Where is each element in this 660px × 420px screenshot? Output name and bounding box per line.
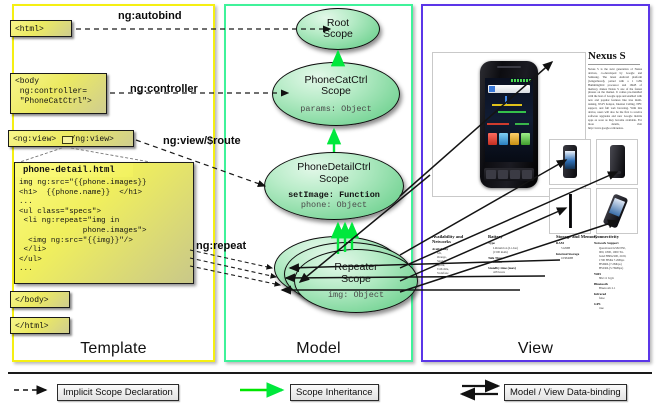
- phone-dock: [484, 168, 534, 181]
- spec-value-3-3-0: false: [594, 296, 642, 300]
- code-box-body-close: </body>: [10, 291, 70, 308]
- scope-phonedetailctrl-line1: PhoneDetailCtrl: [297, 162, 371, 174]
- phone-device-illustration: [480, 61, 538, 188]
- ngview-placeholder-icon: [62, 136, 73, 144]
- spec-value-3-4-0: true: [594, 306, 642, 310]
- scope-root: Root Scope: [296, 8, 380, 50]
- spec-value-1-1-0: 6 hours: [488, 260, 544, 264]
- legend-item-scope-inheritance: Scope Inheritance: [290, 384, 379, 401]
- partial-template-note: phone-detail.html img ng:src="{{phone.im…: [14, 162, 194, 284]
- view-thumbnail-1[interactable]: [596, 139, 638, 185]
- scope-root-line2: Scope: [323, 29, 353, 41]
- label-ng-autobind: ng:autobind: [118, 10, 182, 22]
- scope-repeater: Repeater Scope img: Object: [294, 249, 418, 313]
- spec-value-1-0-1: (1500 mAh): [488, 250, 544, 254]
- scope-repeater-line1: Repeater: [334, 262, 377, 274]
- scope-repeater-line2: Scope: [341, 274, 371, 286]
- view-specs-table: Availability and Networks Availability M…: [432, 234, 639, 312]
- code-box-html-open: <html>: [10, 20, 72, 37]
- scope-phonecatctrl: PhoneCatCtrl Scope params: Object: [272, 62, 400, 126]
- phone-screen: [485, 78, 533, 162]
- phone-wallpaper-line-yellow: [492, 104, 522, 106]
- spec-column-1: Battery Type Lithium Ion (Li-Ion) (1500 …: [488, 234, 544, 274]
- view-page-title: Nexus S: [588, 50, 626, 62]
- diagram-canvas: Template Model View <html> <body ng:cont…: [0, 0, 660, 420]
- spec-heading-3: Connectivity: [594, 234, 642, 239]
- phone-wallpaper-line-red: [487, 123, 509, 125]
- spec-column-0: Availability and Networks Availability M…: [432, 234, 478, 275]
- spec-value-3-1-0: 802.11 b/g/n: [594, 276, 642, 280]
- scope-phonedetailctrl-line2: Scope: [319, 174, 349, 186]
- view-title-underline: [588, 64, 640, 65]
- scope-repeater-attr-img: img: Object: [328, 290, 384, 300]
- scope-phonecatctrl-line2: Scope: [321, 86, 351, 98]
- phone-wallpaper-line-green2: [515, 123, 529, 125]
- scope-phonecatctrl-attr-params: params: Object: [300, 104, 371, 114]
- legend-divider: [8, 372, 652, 374]
- partial-filename: phone-detail.html: [15, 163, 133, 177]
- spec-heading-0: Availability and Networks: [432, 234, 478, 245]
- view-page-description: Nexus S is the next generation of Nexus …: [588, 68, 642, 134]
- column-label-template: Template: [14, 340, 213, 358]
- phone-wallpaper-line-blue: [505, 96, 507, 104]
- label-ng-controller: ng:controller: [130, 83, 198, 95]
- code-box-html-close: </html>: [10, 317, 70, 334]
- column-label-model: Model: [226, 340, 411, 358]
- view-thumbnail-0[interactable]: [549, 139, 591, 185]
- label-ng-view-route: ng:view/$route: [163, 135, 241, 147]
- spec-value-1-2-0: 428 hours: [488, 270, 544, 274]
- view-thumbnail-3[interactable]: [596, 188, 638, 234]
- spec-value-0-0-5: Vodafone: [432, 271, 478, 275]
- spec-heading-1: Battery: [488, 234, 544, 239]
- view-rendered-page: Nexus S Nexus S is the next generation o…: [428, 10, 643, 322]
- phone-speaker: [497, 66, 521, 68]
- legend-item-model-view-data-binding: Model / View Data-binding: [504, 384, 627, 401]
- code-box-body-open: <body ng:controller= "PhoneCatCtrl">: [10, 73, 107, 114]
- spec-value-3-2-0: Bluetooth 2.1: [594, 286, 642, 290]
- scope-phonedetailctrl-attr-phone: phone: Object: [301, 200, 367, 210]
- phone-wallpaper-line-green: [498, 111, 526, 113]
- scope-phonedetailctrl: PhoneDetailCtrl Scope setImage: Function…: [264, 152, 404, 220]
- label-ng-repeat: ng:repeat: [196, 240, 246, 252]
- column-label-view: View: [423, 340, 648, 358]
- partial-code: img ng:src="{{phone.images}} <h1> {{phon…: [19, 179, 191, 275]
- legend-item-implicit-scope-declaration: Implicit Scope Declaration: [57, 384, 179, 401]
- spec-value-3-0-5: HSUPA (5.76Mbps): [594, 266, 642, 270]
- view-thumbnail-2[interactable]: [549, 188, 591, 234]
- phone-search-widget: [488, 85, 530, 93]
- spec-column-3: Connectivity Network Support Quad-band G…: [594, 234, 642, 310]
- phone-status-bar: [511, 79, 531, 82]
- scope-phonedetailctrl-attr-setimage: setImage: Function: [288, 190, 380, 200]
- phone-app-icons: [488, 133, 530, 145]
